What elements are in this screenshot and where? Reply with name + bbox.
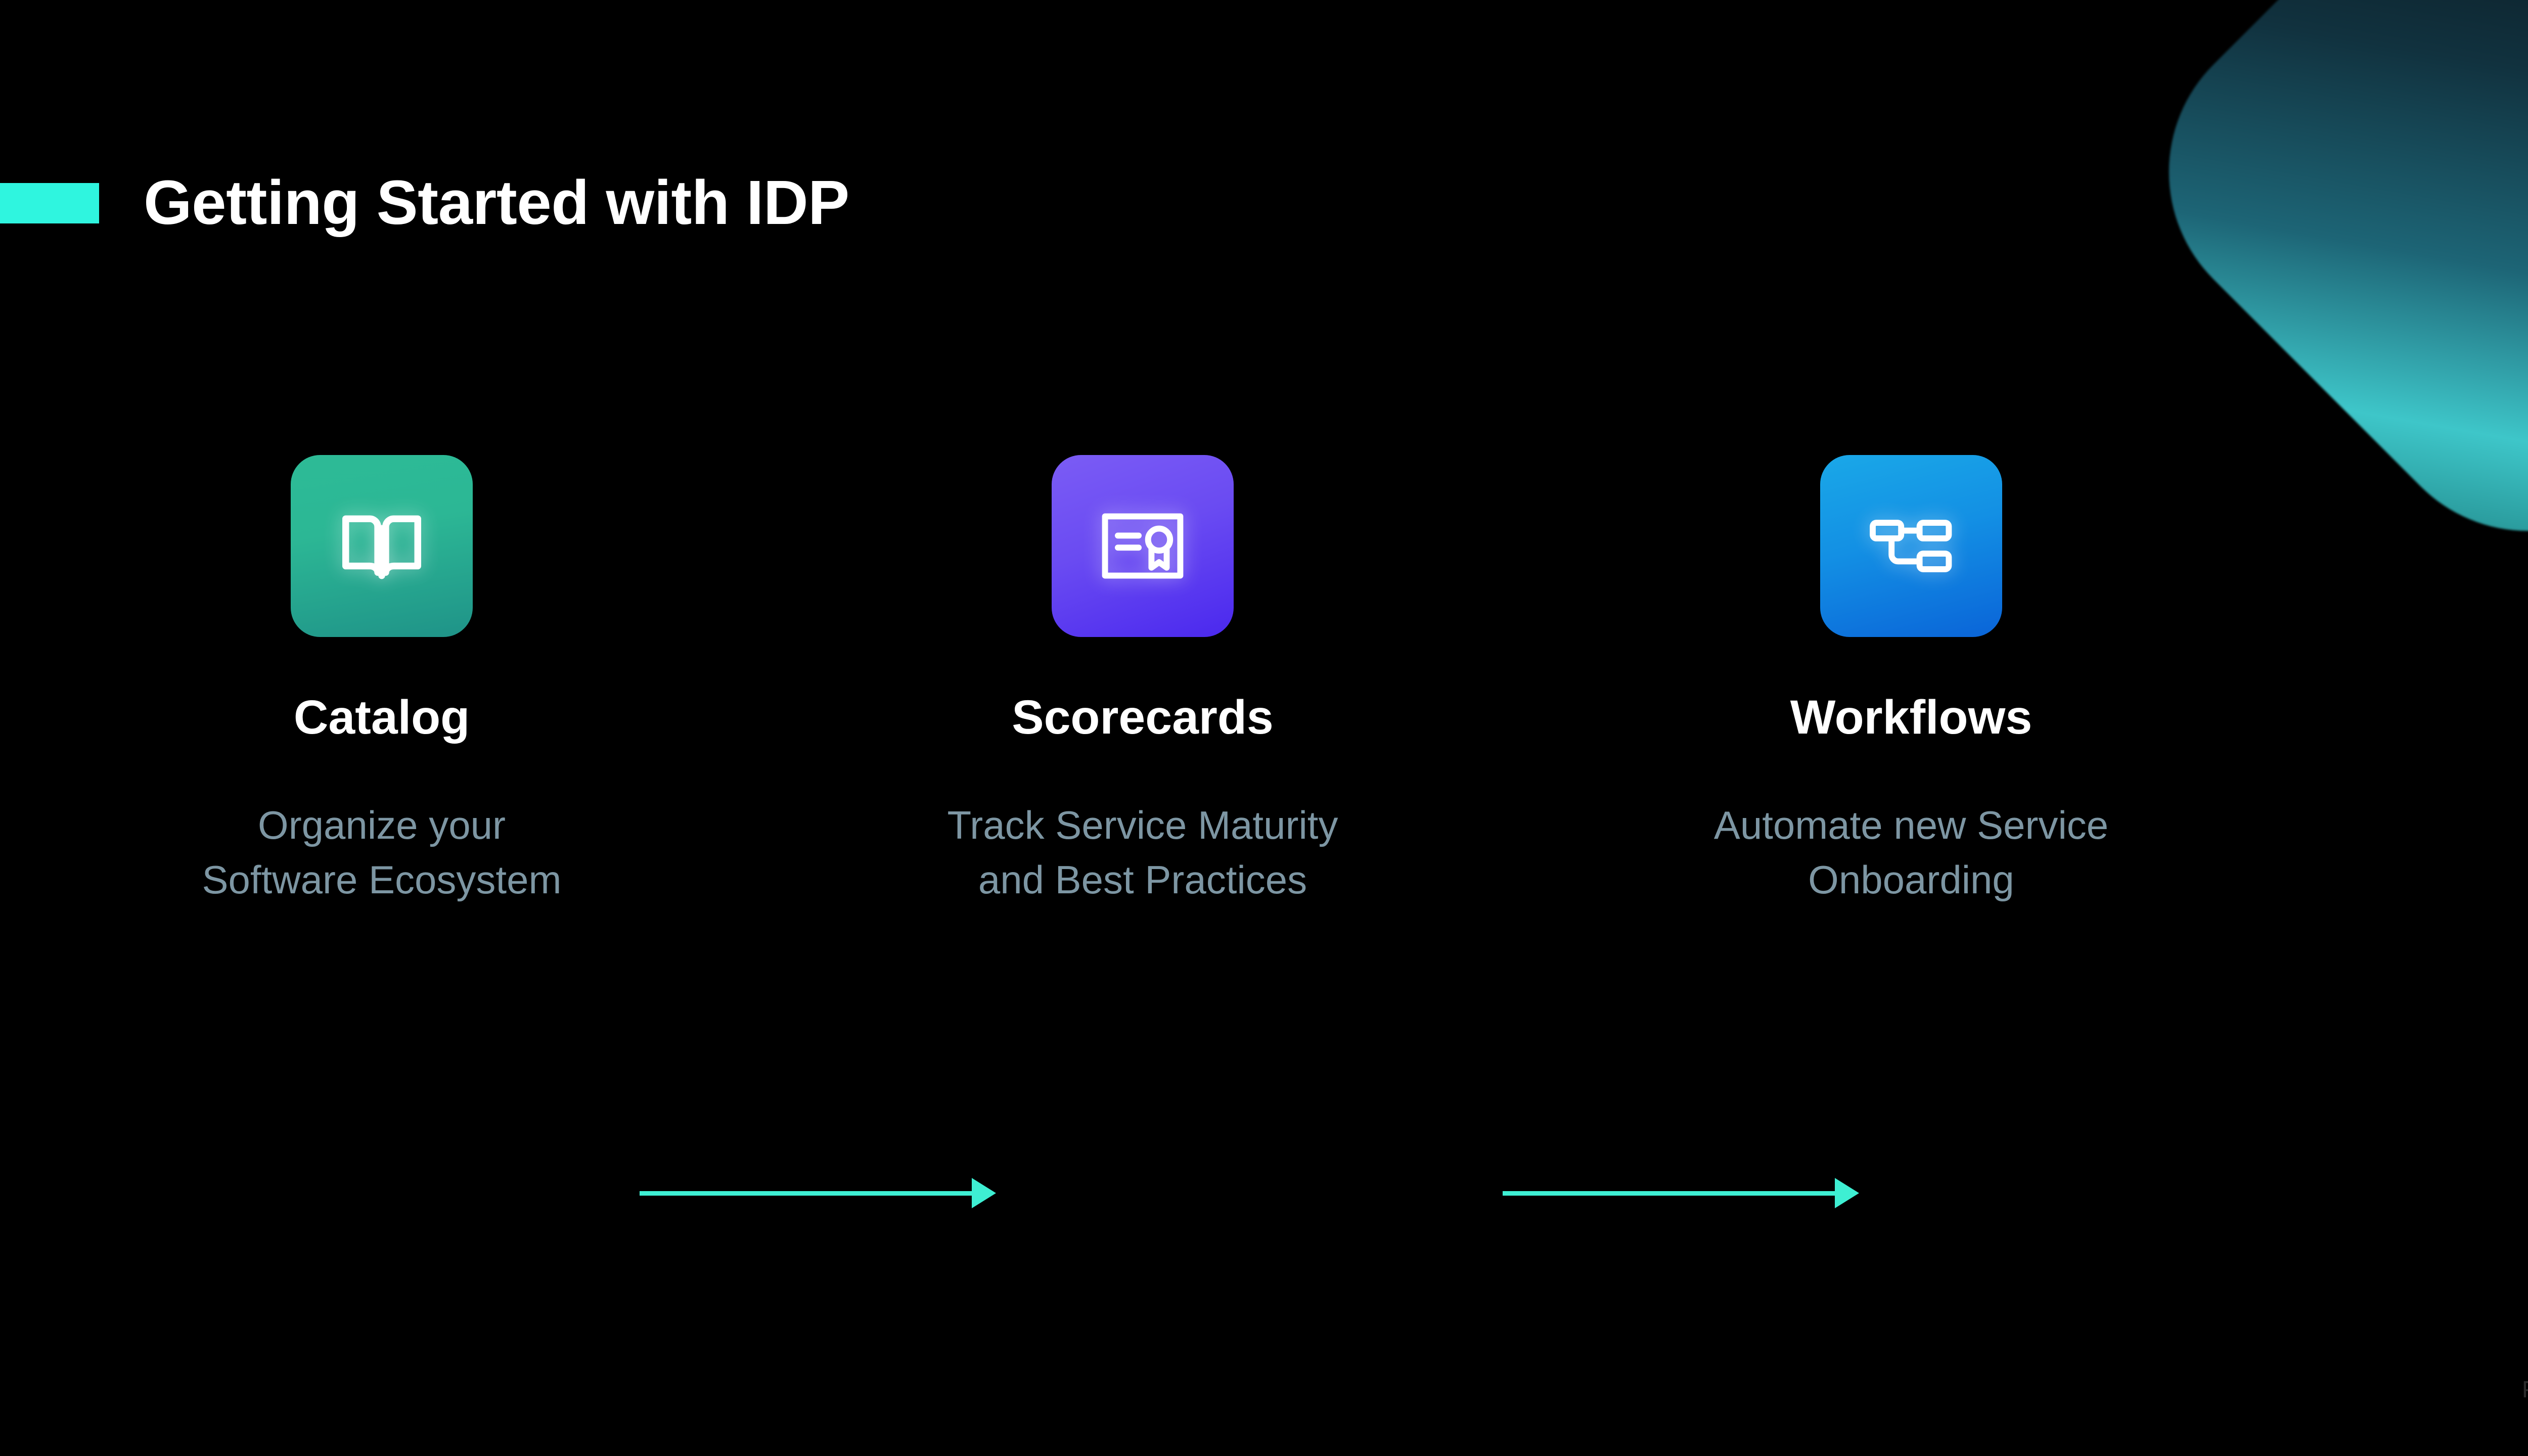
workflow-sitemap-icon xyxy=(1863,498,1959,594)
flow-step-scorecards[interactable]: Scorecards Track Service Maturity and Be… xyxy=(925,455,1360,907)
open-book-icon xyxy=(334,498,430,594)
flow-arrow-catalog-to-scorecards xyxy=(640,1183,996,1203)
step-label: Scorecards xyxy=(1012,694,1274,742)
step-description: Organize your Software Ecosystem xyxy=(202,798,562,907)
arrow-line xyxy=(640,1191,972,1196)
flow-arrow-scorecards-to-workflows xyxy=(1503,1183,1859,1203)
certificate-award-icon xyxy=(1095,498,1191,594)
workflows-icon-tile xyxy=(1820,455,2002,637)
arrow-head-icon xyxy=(972,1178,996,1208)
flow-step-workflows[interactable]: Workflows Automate new Service Onboardin… xyxy=(1694,455,2129,907)
scorecards-icon-tile xyxy=(1052,455,1234,637)
slide-header: Getting Started with IDP xyxy=(0,172,849,234)
arrow-head-icon xyxy=(1835,1178,1859,1208)
catalog-icon-tile xyxy=(291,455,473,637)
flow-step-catalog[interactable]: Catalog Organize your Software Ecosystem xyxy=(164,455,599,907)
arrow-line xyxy=(1503,1191,1835,1196)
flow-diagram: Catalog Organize your Software Ecosystem xyxy=(0,455,2528,991)
step-label: Catalog xyxy=(294,694,470,742)
page-number: P/1 xyxy=(2522,1376,2528,1403)
page-title: Getting Started with IDP xyxy=(144,172,849,234)
step-label: Workflows xyxy=(1790,694,2033,742)
step-description: Track Service Maturity and Best Practice… xyxy=(947,798,1338,907)
step-description: Automate new Service Onboarding xyxy=(1714,798,2108,907)
title-accent-bar xyxy=(0,183,99,223)
